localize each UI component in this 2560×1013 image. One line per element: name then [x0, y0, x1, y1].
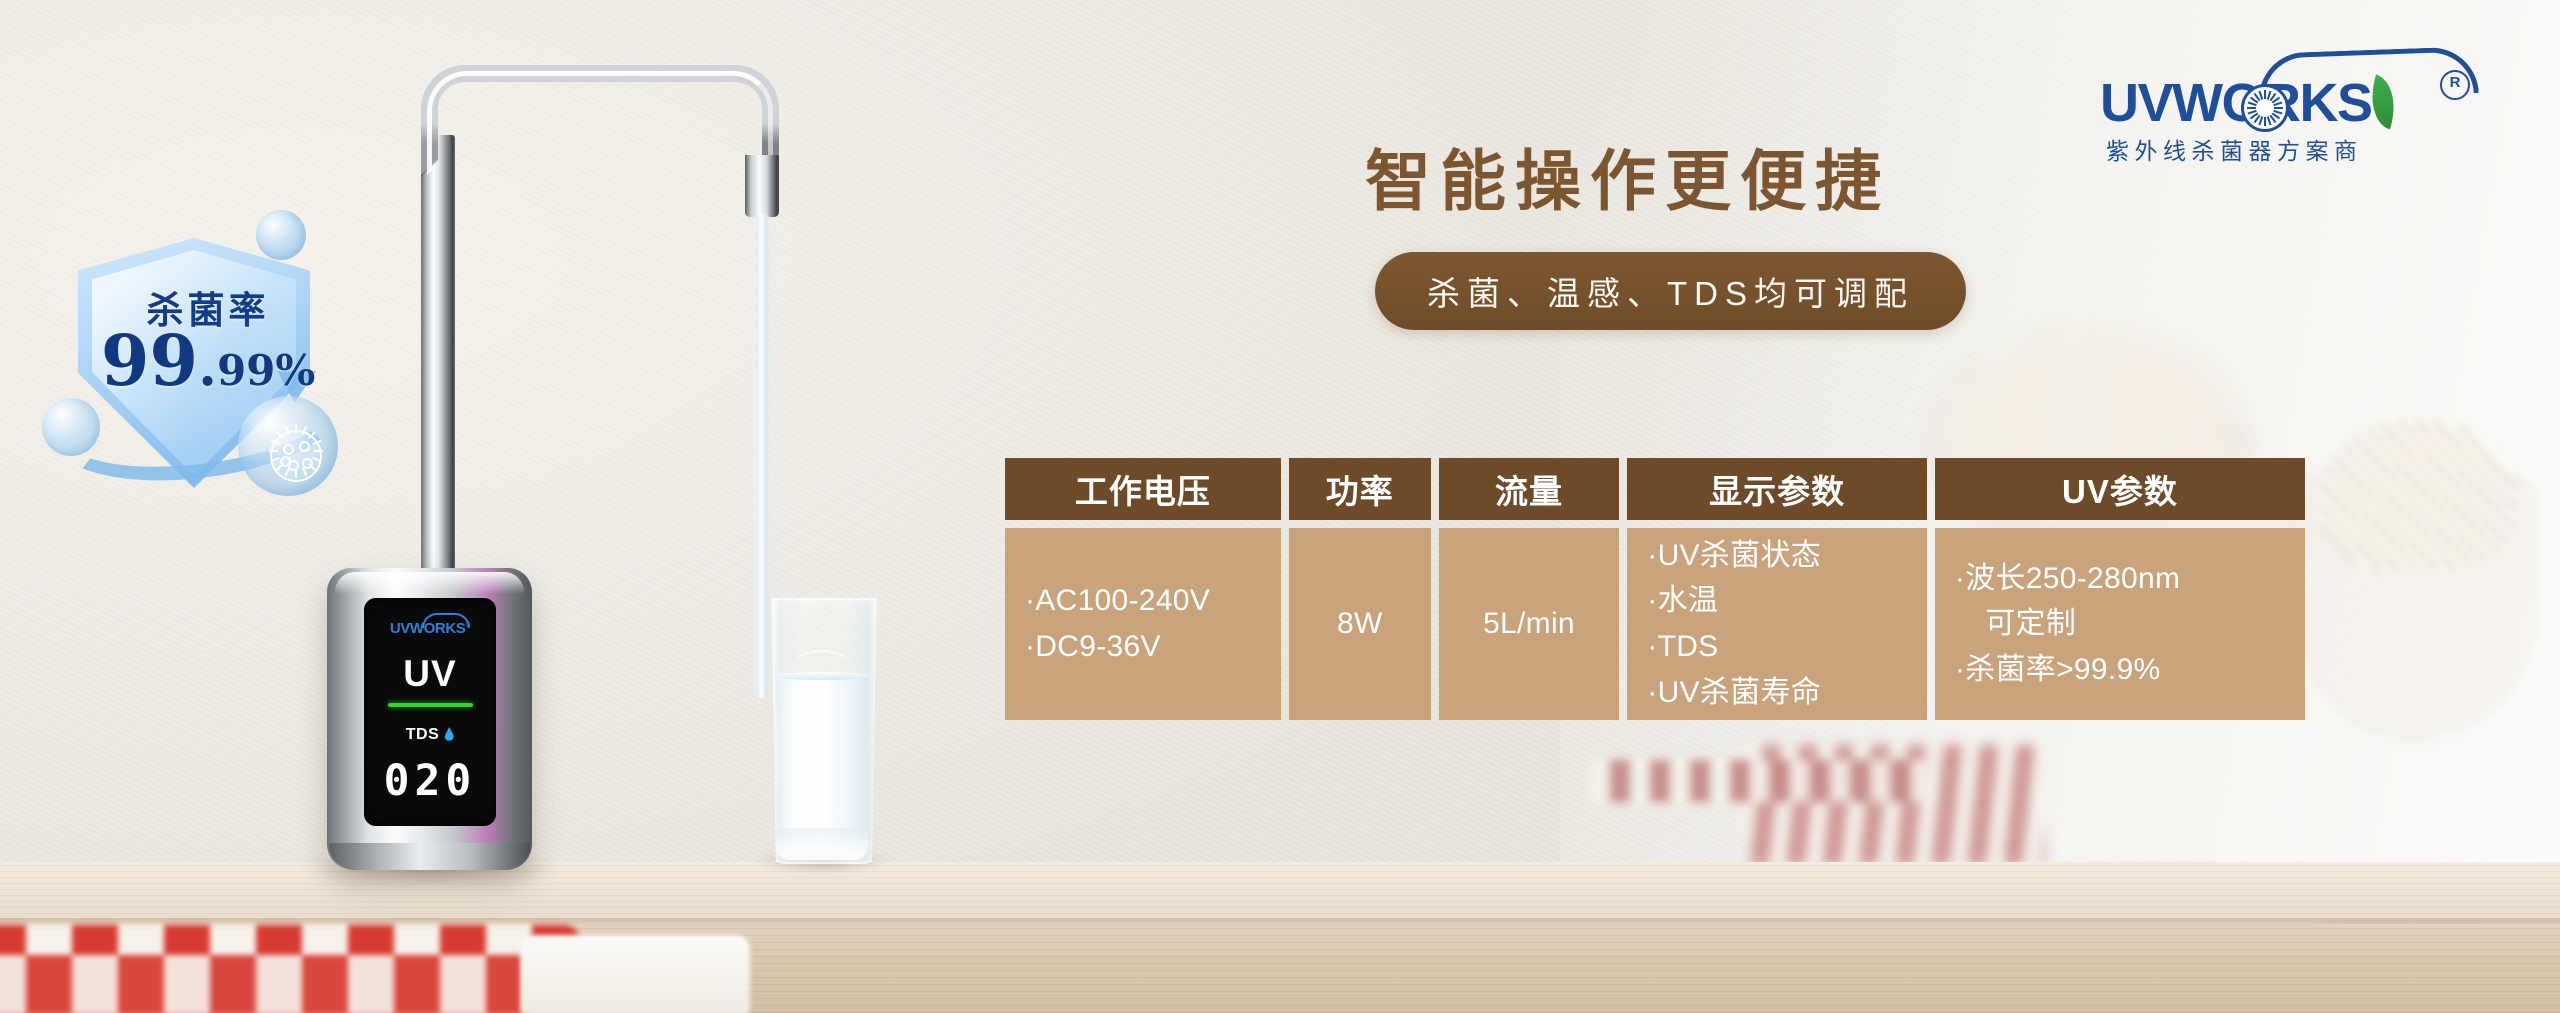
- glass-splash: [794, 650, 850, 682]
- faucet-spout: [745, 155, 779, 217]
- screen-mode-label: UV: [364, 653, 496, 695]
- faucet-gooseneck-highlight: [427, 71, 773, 175]
- registered-trademark-icon: R: [2440, 70, 2470, 100]
- screen-brand-reg: ®: [465, 622, 470, 629]
- spec-line: ·UV杀菌寿命: [1647, 670, 1821, 716]
- spec-column: 功率8W: [1289, 458, 1431, 720]
- screen-tds-value: 020: [364, 756, 496, 806]
- spec-line: ·AC100-240V: [1025, 578, 1210, 624]
- spec-column-header: 显示参数: [1627, 458, 1927, 520]
- screen-brand-word: UVWORKS: [390, 620, 466, 637]
- subtitle-text: 杀菌、温感、TDS均可调配: [1427, 267, 1914, 315]
- spec-column-cell: ·UV杀菌状态·水温·TDS·UV杀菌寿命: [1627, 528, 1927, 720]
- sunburst-icon: [2241, 84, 2289, 132]
- device-top-highlight: [335, 572, 524, 594]
- screen-status-bar: [388, 703, 473, 707]
- spec-line: ·UV杀菌状态: [1647, 533, 1821, 579]
- logo-wordmark: UVWORKS: [2100, 72, 2480, 134]
- bubble-icon-top: [256, 210, 306, 260]
- spec-line: ·波长250-280nm: [1955, 556, 2180, 602]
- checkered-cloth-row2: [0, 955, 580, 1013]
- screen-tds-row: TDS: [364, 726, 496, 744]
- badge-value-dot: .: [198, 334, 217, 398]
- spec-column: 流量5L/min: [1439, 458, 1620, 720]
- spec-column-header: 工作电压: [1005, 458, 1281, 520]
- brand-logo: UVWORKS R 紫外线杀菌器方案商: [2100, 48, 2480, 168]
- spec-line: ·杀菌率>99.9%: [1955, 647, 2161, 693]
- page-title: 智能操作更便捷: [1365, 128, 1890, 224]
- germ-icon: [270, 430, 322, 482]
- spec-column: 显示参数·UV杀菌状态·水温·TDS·UV杀菌寿命: [1627, 458, 1927, 720]
- spec-column: 工作电压·AC100-240V·DC9-36V: [1005, 458, 1281, 720]
- spec-line: 5L/min: [1483, 601, 1575, 647]
- spec-column-cell: 5L/min: [1439, 528, 1620, 720]
- spec-column-cell: ·AC100-240V·DC9-36V: [1005, 528, 1281, 720]
- spec-line: ·水温: [1647, 578, 1718, 624]
- water-glass: [768, 598, 876, 870]
- spec-line: 可定制: [1955, 601, 2076, 647]
- banner-canvas: UVWORKS® UV TDS 020 杀菌率 99.99% 智能操作更便捷 杀…: [0, 0, 2560, 1013]
- white-plate: [520, 935, 750, 1013]
- badge-value-major: 99: [101, 319, 198, 402]
- spec-column-cell: ·波长250-280nm 可定制·杀菌率>99.9%: [1935, 528, 2305, 720]
- device-base: [329, 843, 530, 870]
- spec-line: ·DC9-36V: [1025, 624, 1161, 670]
- spec-column-header: 流量: [1439, 458, 1620, 520]
- subtitle-pill: 杀菌、温感、TDS均可调配: [1375, 252, 1966, 330]
- glass-bottom: [776, 828, 868, 860]
- spec-column: UV参数·波长250-280nm 可定制·杀菌率>99.9%: [1935, 458, 2305, 720]
- striped-ribbon: [1590, 760, 1930, 802]
- screen-tds-label: TDS: [406, 726, 440, 743]
- badge-value-minor: 99%: [217, 346, 315, 395]
- faucet: [415, 55, 815, 575]
- sterilization-rate-badge: 杀菌率 99.99%: [48, 218, 368, 508]
- spec-table: 工作电压·AC100-240V·DC9-36V功率8W流量5L/min显示参数·…: [1005, 458, 2305, 720]
- badge-value: 99.99%: [48, 326, 368, 398]
- spec-column-header: UV参数: [1935, 458, 2305, 520]
- water-drop-icon: [444, 727, 454, 741]
- device-screen[interactable]: UVWORKS® UV TDS 020: [364, 598, 496, 826]
- spec-line: ·TDS: [1647, 624, 1718, 670]
- uv-sterilizer-device: UVWORKS® UV TDS 020: [327, 568, 532, 870]
- spec-line: 8W: [1337, 601, 1383, 647]
- logo-subtitle: 紫外线杀菌器方案商: [2106, 132, 2480, 166]
- spec-column-header: 功率: [1289, 458, 1431, 520]
- screen-brand-logo: UVWORKS®: [364, 620, 496, 637]
- spec-column-cell: 8W: [1289, 528, 1431, 720]
- basket-yarn: [2320, 420, 2515, 570]
